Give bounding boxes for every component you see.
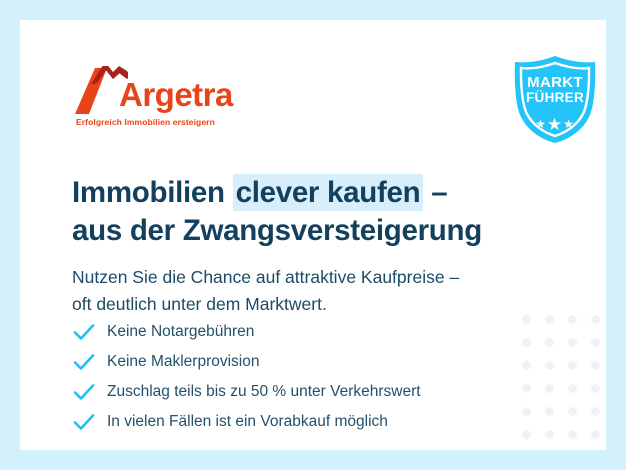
list-item: Zuschlag teils bis zu 50 % unter Verkehr…	[73, 377, 503, 407]
dot	[568, 315, 577, 324]
page-frame: Argetra Erfolgreich Immobilien ersteiger…	[0, 0, 626, 470]
dot	[545, 430, 554, 439]
logo-tagline: Erfolgreich Immobilien ersteigern	[76, 117, 215, 127]
check-icon	[73, 412, 99, 432]
dot	[545, 338, 554, 347]
dot	[522, 361, 531, 370]
logo-wordmark: Argetra	[119, 78, 233, 111]
headline-suffix: –	[423, 176, 447, 209]
list-item-label: In vielen Fällen ist ein Vorabkauf mögli…	[107, 413, 388, 432]
list-item-label: Keine Notargebühren	[107, 323, 254, 342]
dot	[591, 430, 600, 439]
list-item-label: Zuschlag teils bis zu 50 % unter Verkehr…	[107, 383, 421, 402]
dot	[591, 338, 600, 347]
headline-line-2: aus der Zwangsversteigerung	[72, 214, 482, 247]
dot	[545, 407, 554, 416]
dot	[545, 384, 554, 393]
list-item: Keine Notargebühren	[73, 317, 503, 347]
benefit-list: Keine Notargebühren Keine Maklerprovisio…	[73, 317, 503, 437]
argetra-logo: Argetra Erfolgreich Immobilien ersteiger…	[75, 66, 225, 132]
subheadline-line-2: oft deutlich unter dem Marktwert.	[72, 294, 327, 314]
dot	[591, 361, 600, 370]
market-leader-badge: MARKT FÜHRER ★★★	[509, 53, 601, 145]
dot-grid-decoration	[515, 308, 606, 450]
dot	[568, 361, 577, 370]
headline-highlight: clever kaufen	[233, 174, 424, 211]
dot	[568, 384, 577, 393]
check-icon	[73, 352, 99, 372]
check-icon	[73, 382, 99, 402]
dot	[522, 338, 531, 347]
dot	[522, 384, 531, 393]
list-item: Keine Maklerprovision	[73, 347, 503, 377]
page-subheadline: Nutzen Sie die Chance auf attraktive Kau…	[72, 264, 552, 319]
dot	[591, 315, 600, 324]
dot	[522, 430, 531, 439]
badge-line-markt: MARKT	[509, 75, 601, 91]
dot	[568, 338, 577, 347]
page-headline: Immobilien clever kaufen – aus der Zwang…	[72, 174, 542, 250]
list-item-label: Keine Maklerprovision	[107, 353, 260, 372]
list-item: In vielen Fällen ist ein Vorabkauf mögli…	[73, 407, 503, 437]
dot	[522, 407, 531, 416]
promo-card: Argetra Erfolgreich Immobilien ersteiger…	[20, 20, 606, 450]
dot	[591, 384, 600, 393]
dot	[568, 407, 577, 416]
dot	[545, 361, 554, 370]
badge-line-fuehrer: FÜHRER	[509, 91, 601, 105]
subheadline-line-1: Nutzen Sie die Chance auf attraktive Kau…	[72, 267, 459, 287]
dot	[568, 430, 577, 439]
badge-stars-icon: ★★★	[509, 116, 601, 133]
headline-prefix: Immobilien	[72, 176, 233, 209]
badge-text-block: MARKT FÜHRER	[509, 75, 601, 105]
check-icon	[73, 322, 99, 342]
dot	[591, 407, 600, 416]
